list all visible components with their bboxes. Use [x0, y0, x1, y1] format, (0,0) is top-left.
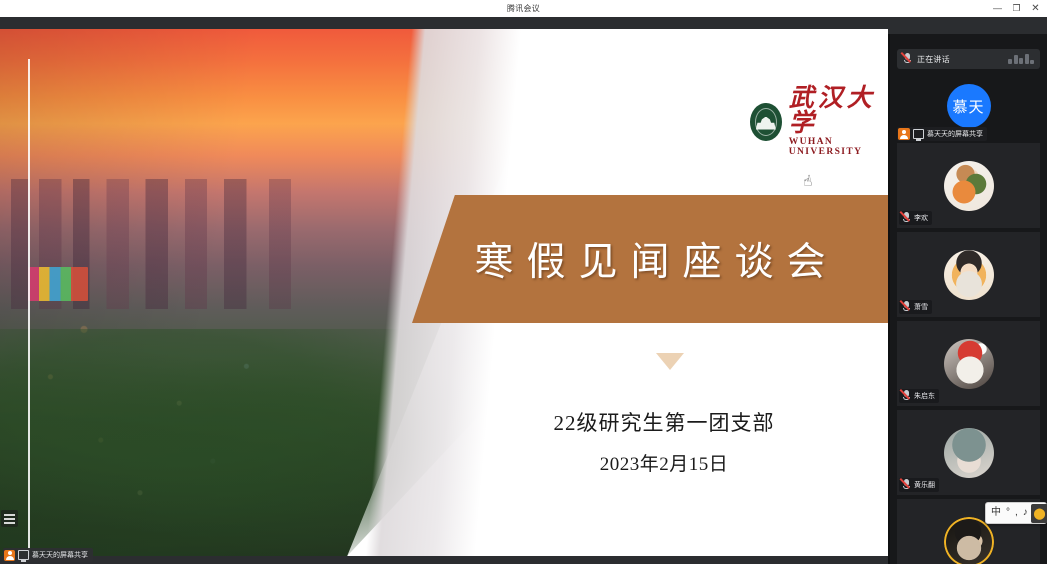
- ime-mode-icon[interactable]: 中: [991, 508, 1001, 518]
- meeting-body: 武汉大学 WUHAN UNIVERSITY 寒假见闻座谈会 22级研究生第一团支…: [0, 17, 1047, 564]
- minimize-button[interactable]: —: [988, 0, 1007, 17]
- slide-menu-icon[interactable]: [1, 510, 18, 527]
- slide-title-banner: 寒假见闻座谈会: [412, 195, 888, 323]
- seal-building-icon: [756, 117, 776, 130]
- screen-share-icon: [18, 550, 29, 560]
- ime-note-icon[interactable]: ♪: [1023, 508, 1028, 518]
- university-seal-icon: [750, 103, 782, 141]
- speaking-status-bar: 正在讲话: [897, 49, 1040, 69]
- ime-toolbar[interactable]: 中 ° , ♪ ⚙ ⬤: [985, 502, 1047, 524]
- logo-chinese-name: 武汉大学: [789, 86, 888, 136]
- slide-subtitle-date: 2023年2月15日: [440, 449, 888, 476]
- participant-name-label: 李欢: [914, 213, 928, 223]
- logo-text-group: 武汉大学 WUHAN UNIVERSITY: [789, 86, 888, 157]
- host-icon: [898, 128, 910, 140]
- mic-muted-icon: [902, 390, 911, 402]
- participants-rail: 正在讲话 慕天 慕天天的屏幕共享 李欢: [890, 34, 1047, 564]
- mic-muted-icon: [902, 301, 911, 313]
- maximize-button[interactable]: ❐: [1007, 0, 1026, 17]
- mic-muted-icon: [902, 479, 911, 491]
- audio-waveform-icon: [1008, 54, 1034, 64]
- screen-share-indicator[interactable]: 慕天天的屏幕共享: [3, 548, 93, 562]
- participant-name-badge: 李欢: [899, 211, 932, 225]
- participant-name-label: 萧雪: [914, 302, 928, 312]
- hand-cursor-icon: ☝: [802, 171, 814, 190]
- slide-photo-neon-building: [28, 267, 88, 301]
- screen-share-icon: [913, 129, 924, 139]
- participant-name-badge: 朱启东: [899, 389, 939, 403]
- participant-avatar: [944, 428, 994, 478]
- self-avatar: 慕天: [947, 84, 991, 128]
- slide-vertical-rule: [28, 59, 30, 556]
- mic-muted-icon: [903, 53, 912, 65]
- self-name-label: 慕天天的屏幕共享: [927, 129, 983, 139]
- window-titlebar: 腾讯会议 — ❐ ✕: [0, 0, 1047, 17]
- window-controls: — ❐ ✕: [988, 0, 1045, 17]
- participant-tile-1[interactable]: 李欢: [897, 143, 1040, 228]
- participant-name-label: 朱启东: [914, 391, 935, 401]
- slide-title: 寒假见闻座谈会: [461, 231, 838, 287]
- participant-avatar: [944, 250, 994, 300]
- speaking-status-label: 正在讲话: [917, 54, 950, 65]
- participant-avatar: [944, 161, 994, 211]
- ime-logo-icon[interactable]: ⬤: [1031, 504, 1047, 523]
- logo-english-name: WUHAN UNIVERSITY: [789, 137, 888, 157]
- wuhan-university-logo: 武汉大学 WUHAN UNIVERSITY: [750, 86, 888, 157]
- ime-punctuation-icon[interactable]: °: [1006, 508, 1010, 518]
- self-name-badge: 慕天天的屏幕共享: [897, 127, 987, 141]
- presentation-slide: 武汉大学 WUHAN UNIVERSITY 寒假见闻座谈会 22级研究生第一团支…: [0, 29, 888, 556]
- self-video-tile[interactable]: 慕天 慕天天的屏幕共享: [897, 73, 1040, 139]
- participant-tile-2[interactable]: 萧雪: [897, 232, 1040, 317]
- participant-avatar: [944, 339, 994, 389]
- participant-tile-4[interactable]: 黄乐翻: [897, 410, 1040, 495]
- mic-muted-icon: [902, 212, 911, 224]
- screen-share-label: 慕天天的屏幕共享: [32, 550, 88, 560]
- participant-tile-3[interactable]: 朱启东: [897, 321, 1040, 406]
- participant-name-badge: 萧雪: [899, 300, 932, 314]
- window-title: 腾讯会议: [507, 3, 540, 14]
- shared-screen-stage[interactable]: 武汉大学 WUHAN UNIVERSITY 寒假见闻座谈会 22级研究生第一团支…: [0, 29, 888, 556]
- close-button[interactable]: ✕: [1026, 0, 1045, 17]
- participant-name-badge: 黄乐翻: [899, 478, 939, 492]
- app-root: 腾讯会议 — ❐ ✕: [0, 0, 1047, 564]
- host-icon: [4, 550, 15, 561]
- slide-subtitle-org: 22级研究生第一团支部: [440, 407, 888, 437]
- participant-name-label: 黄乐翻: [914, 480, 935, 490]
- triangle-decoration-icon: [656, 353, 684, 370]
- ime-comma-icon[interactable]: ,: [1015, 508, 1018, 518]
